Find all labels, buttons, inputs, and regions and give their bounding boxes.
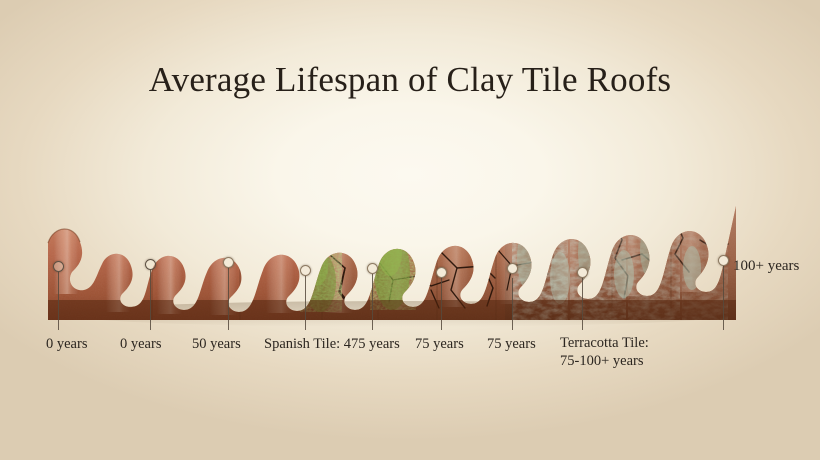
timeline-label-m2: 0 years	[120, 336, 161, 353]
leader-line-m2	[150, 270, 151, 330]
timeline-marker-dot-m5[interactable]	[367, 263, 378, 274]
leader-line-m7	[582, 272, 583, 330]
leader-line-m1	[58, 272, 59, 330]
timeline-label-text-line2: 75-100+ years	[560, 353, 643, 369]
timeline-label-m9: 100+ years	[733, 258, 799, 275]
timeline-label-m4: Spanish Tile: 475 years	[264, 336, 400, 353]
timeline-label-text: Spanish Tile: 4	[264, 336, 351, 352]
timeline-label-text: 75 years	[415, 336, 464, 352]
timeline-label-m1: 0 years	[46, 336, 87, 353]
timeline-label-text: 0 years	[46, 336, 87, 352]
timeline-marker-dot-m7[interactable]	[507, 263, 518, 274]
timeline-marker-dot-m3[interactable]	[223, 257, 234, 268]
timeline-marker-dot-m9[interactable]	[718, 255, 729, 266]
infographic-canvas: Average Lifespan of Clay Tile Roofs	[0, 0, 820, 460]
timeline-label-text: Terracotta Tile:	[560, 335, 649, 351]
leader-line-m6	[441, 278, 442, 330]
timeline-label-m6: 75 years	[487, 336, 536, 353]
clay-tile-roof-illustration	[0, 0, 820, 460]
timeline-label-m7: Terracotta Tile:75-100+ years	[560, 334, 690, 370]
timeline-marker-dot-m2[interactable]	[145, 259, 156, 270]
timeline-label-text: 50 years	[192, 336, 241, 352]
timeline-label-m3: 50 years	[192, 336, 241, 353]
timeline-label-overlap-text: 75 years	[351, 336, 400, 352]
leader-line-m4	[305, 276, 306, 330]
leader-line-m3	[228, 268, 229, 330]
timeline-label-text: 0 years	[120, 336, 161, 352]
timeline-label-text: 100+ years	[733, 258, 799, 274]
leader-line-m9	[723, 266, 724, 330]
timeline-marker-dot-m8[interactable]	[577, 267, 588, 278]
timeline-marker-dot-m4[interactable]	[300, 265, 311, 276]
leader-line-m8	[512, 278, 513, 330]
timeline-label-text: 75 years	[487, 336, 536, 352]
timeline-label-m5: 75 years	[415, 336, 464, 353]
timeline-marker-dot-m1[interactable]	[53, 261, 64, 272]
leader-line-m5	[372, 274, 373, 330]
timeline-marker-dot-m6[interactable]	[436, 267, 447, 278]
